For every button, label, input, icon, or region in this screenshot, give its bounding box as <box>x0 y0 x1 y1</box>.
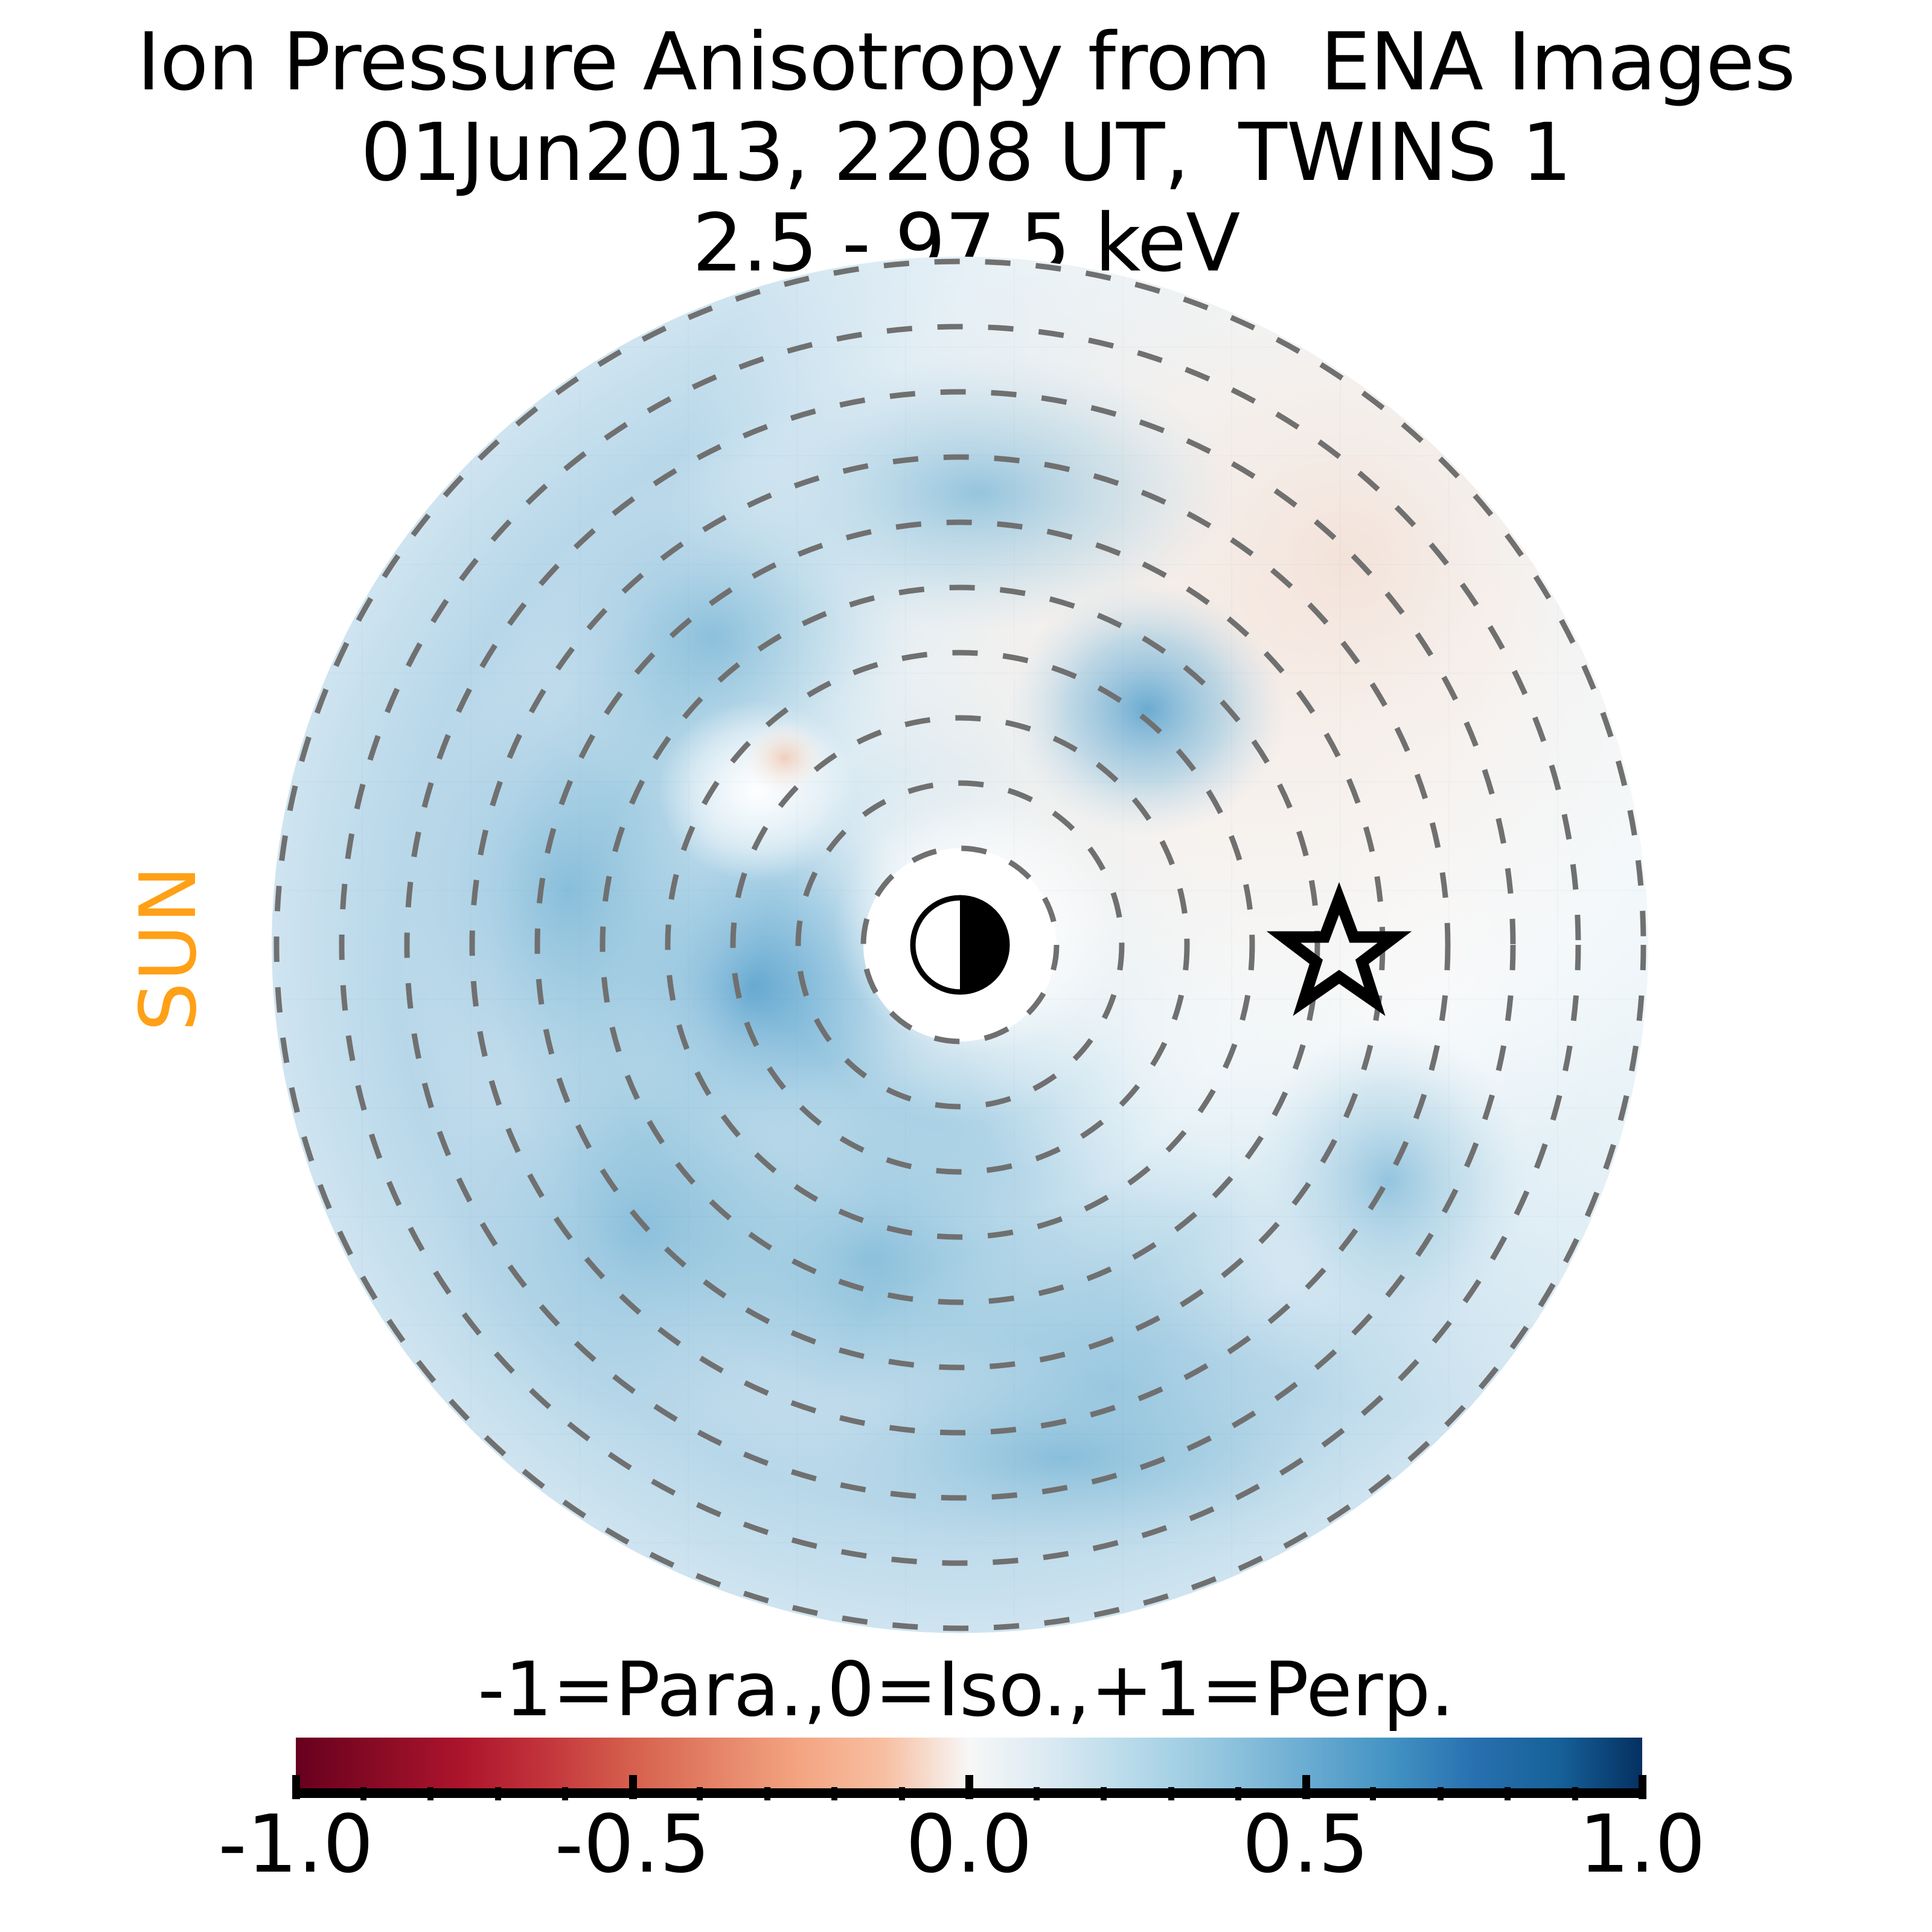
colorbar-tick-label: 0.0 <box>830 1802 1108 1887</box>
colorbar-major-tick <box>1302 1775 1310 1799</box>
colorbar-major-tick <box>965 1775 973 1799</box>
colorbar-tick-label: -1.0 <box>157 1802 435 1887</box>
colorbar-tick-label: 0.5 <box>1167 1802 1445 1887</box>
colorbar-minor-tick <box>899 1787 905 1800</box>
earth-dial-symbol <box>913 898 1007 992</box>
colorbar-minor-tick <box>1505 1787 1511 1800</box>
colorbar[interactable] <box>296 1738 1642 1788</box>
polar-plot-area <box>254 238 1666 1651</box>
colorbar-minor-tick <box>427 1787 433 1800</box>
colorbar-minor-tick <box>1034 1787 1040 1800</box>
colorbar-major-tick <box>292 1775 300 1799</box>
title-line-1: Ion Pressure Anisotropy from ENA Images <box>0 17 1932 107</box>
colorbar-minor-tick <box>764 1787 770 1800</box>
colorbar-minor-tick <box>495 1787 501 1800</box>
colorbar-minor-tick <box>831 1787 837 1800</box>
polar-heatmap <box>254 238 1666 1651</box>
colorbar-tick-label: 1.0 <box>1503 1802 1781 1887</box>
colorbar-major-tick <box>629 1775 637 1799</box>
colorbar-minor-tick <box>1438 1787 1444 1800</box>
colorbar-label: -1=Para.,0=Iso.,+1=Perp. <box>0 1651 1932 1729</box>
colorbar-major-tick <box>1639 1775 1646 1799</box>
colorbar-tick-label: -0.5 <box>494 1802 772 1887</box>
colorbar-minor-tick <box>1168 1787 1174 1800</box>
colorbar-minor-tick <box>1370 1787 1376 1800</box>
colorbar-minor-tick <box>1235 1787 1241 1800</box>
title-line-2: 01Jun2013, 2208 UT, TWINS 1 <box>0 107 1932 198</box>
colorbar-tick-labels: -1.0 -0.5 0.0 0.5 1.0 <box>296 1802 1642 1905</box>
sun-direction-label: SUN <box>130 845 208 1051</box>
figure-canvas: Ion Pressure Anisotropy from ENA Images … <box>0 0 1932 1932</box>
colorbar-minor-tick <box>1572 1787 1578 1800</box>
colorbar-minor-tick <box>1101 1787 1107 1800</box>
